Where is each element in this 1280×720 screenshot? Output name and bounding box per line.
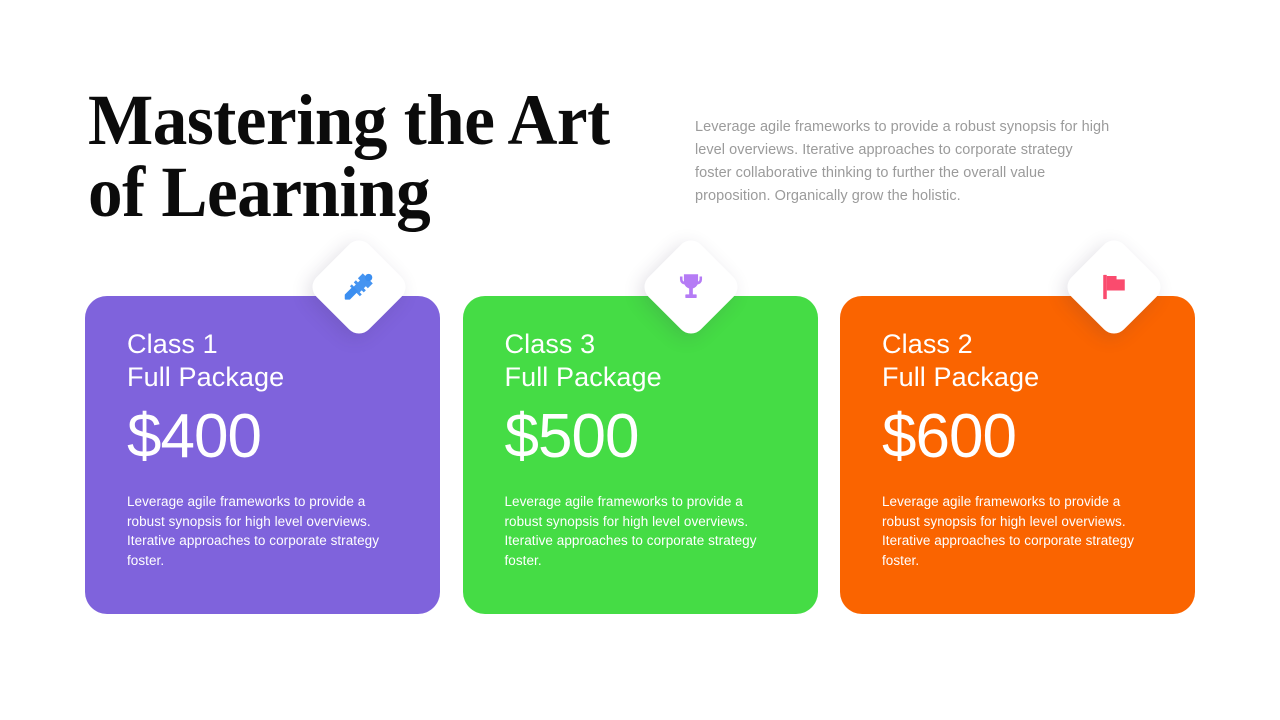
card-description: Leverage agile frameworks to provide a r… [882, 492, 1153, 570]
pricing-card[interactable]: Class 1 Full Package $400 Leverage agile… [85, 296, 440, 614]
card-title: Class 2 Full Package [882, 328, 1153, 394]
flag-icon [1093, 266, 1135, 308]
slide-canvas: Mastering the Art of Learning Leverage a… [0, 0, 1280, 720]
card-title: Class 3 Full Package [505, 328, 776, 394]
card-description: Leverage agile frameworks to provide a r… [505, 492, 776, 570]
card-badge [1062, 235, 1167, 340]
pricing-card-row: Class 1 Full Package $400 Leverage agile… [85, 296, 1195, 614]
pricing-card[interactable]: Class 3 Full Package $500 Leverage agile… [463, 296, 818, 614]
card-description: Leverage agile frameworks to provide a r… [127, 492, 398, 570]
page-title: Mastering the Art of Learning [88, 84, 664, 228]
pricing-card[interactable]: Class 2 Full Package $600 Leverage agile… [840, 296, 1195, 614]
intro-paragraph: Leverage agile frameworks to provide a r… [695, 116, 1113, 208]
card-price: $500 [505, 404, 776, 470]
card-badge [638, 235, 743, 340]
trophy-icon [670, 266, 712, 308]
design-tools-icon [338, 266, 380, 308]
card-price: $400 [127, 404, 398, 470]
card-badge [307, 235, 412, 340]
card-price: $600 [882, 404, 1153, 470]
card-title: Class 1 Full Package [127, 328, 398, 394]
